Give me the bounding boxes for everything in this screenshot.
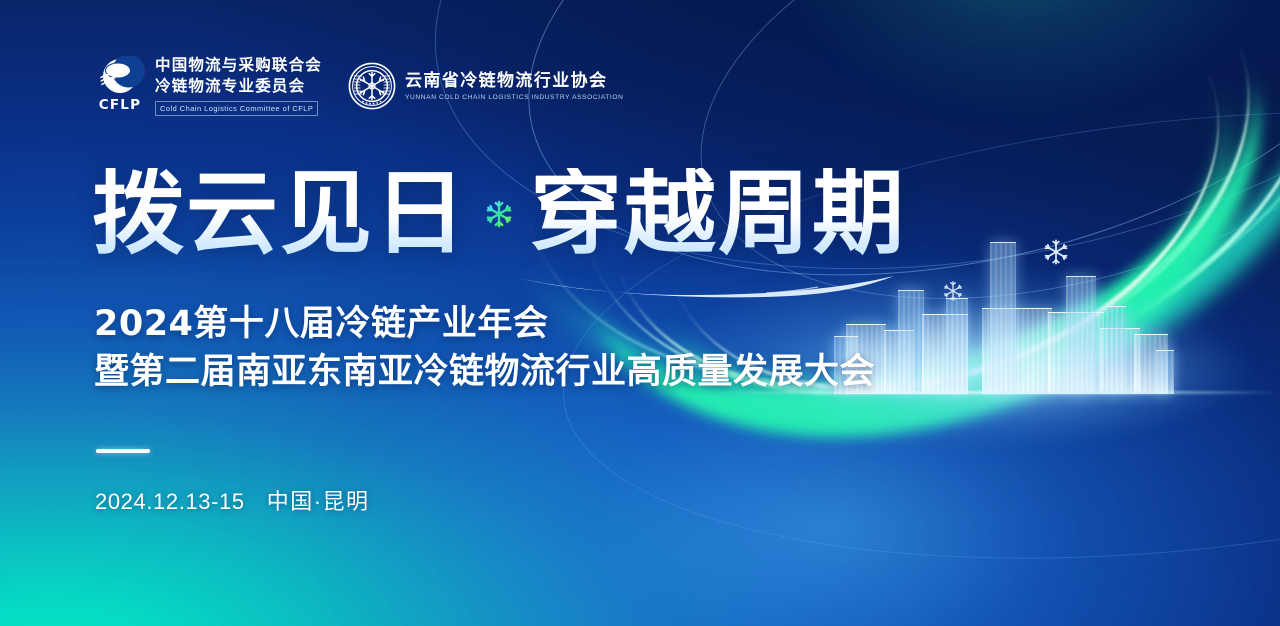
yunnan-name-cn: 云南省冷链物流行业协会: [405, 70, 623, 91]
conference-banner: CFLP 中国物流与采购联合会 冷链物流专业委员会 Cold Chain Log…: [0, 0, 1280, 626]
organizer-cflp: CFLP 中国物流与采购联合会 冷链物流专业委员会 Cold Chain Log…: [94, 56, 322, 116]
event-date: 2024.12.13-15: [95, 487, 245, 517]
subtitle-line1: 2024第十八届冷链产业年会: [94, 300, 875, 348]
cflp-name-line2: 冷链物流专业委员会: [155, 77, 322, 96]
divider-rule: [96, 449, 150, 453]
organizer-yunnan: 云南省冷链物流行业协会 YUNNAN COLD CHAIN LOGISTICS …: [348, 62, 623, 110]
headline: 拨云见日: [92, 168, 906, 260]
headline-part1: 拨云见日: [92, 168, 468, 260]
organizer-logos: CFLP 中国物流与采购联合会 冷链物流专业委员会 Cold Chain Log…: [94, 56, 623, 116]
headline-part2: 穿越周期: [530, 168, 906, 260]
event-meta: 2024.12.13-15 中国·昆明: [95, 487, 370, 517]
snowflake-seal-logo-icon: [348, 62, 396, 110]
yunnan-name-en: YUNNAN COLD CHAIN LOGISTICS INDUSTRY ASS…: [405, 93, 623, 103]
subtitle: 2024第十八届冷链产业年会 暨第二届南亚东南亚冷链物流行业高质量发展大会: [94, 300, 875, 396]
svg-text:CFLP: CFLP: [99, 97, 141, 113]
headline-snowflake-icon: [484, 199, 514, 229]
cflp-sphere-logo-icon: CFLP: [94, 56, 146, 116]
cflp-name-en: Cold Chain Logistics Committee of CFLP: [155, 101, 318, 116]
event-location: 中国·昆明: [267, 487, 370, 517]
brush-stroke-decor: [516, 272, 896, 298]
subtitle-line2: 暨第二届南亚东南亚冷链物流行业高质量发展大会: [94, 348, 875, 396]
cflp-name-line1: 中国物流与采购联合会: [155, 56, 322, 75]
